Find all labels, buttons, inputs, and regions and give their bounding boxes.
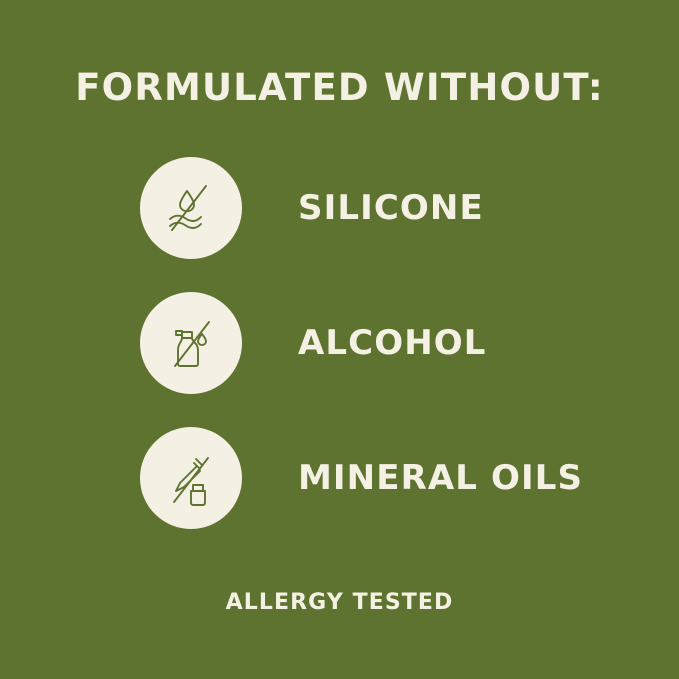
alcohol-badge <box>140 292 242 394</box>
dropper-and-bottle-crossed-out-icon <box>160 447 222 509</box>
list-item-label: SILICONE <box>298 188 484 228</box>
formulated-without-card: FORMULATED WITHOUT: SILICONE <box>0 0 679 679</box>
page-title: FORMULATED WITHOUT: <box>0 66 679 109</box>
claims-list: SILICONE ALCOHOL <box>0 140 679 545</box>
allergy-tested-note: ALLERGY TESTED <box>0 590 679 615</box>
list-item: SILICONE <box>0 140 679 275</box>
droplet-on-hair-strand-crossed-out-icon <box>160 177 222 239</box>
list-item-label: ALCOHOL <box>298 323 487 363</box>
mineral-oils-badge <box>140 427 242 529</box>
silicone-badge <box>140 157 242 259</box>
spray-bottle-crossed-out-icon <box>160 312 222 374</box>
list-item: MINERAL OILS <box>0 410 679 545</box>
list-item: ALCOHOL <box>0 275 679 410</box>
list-item-label: MINERAL OILS <box>298 458 583 498</box>
